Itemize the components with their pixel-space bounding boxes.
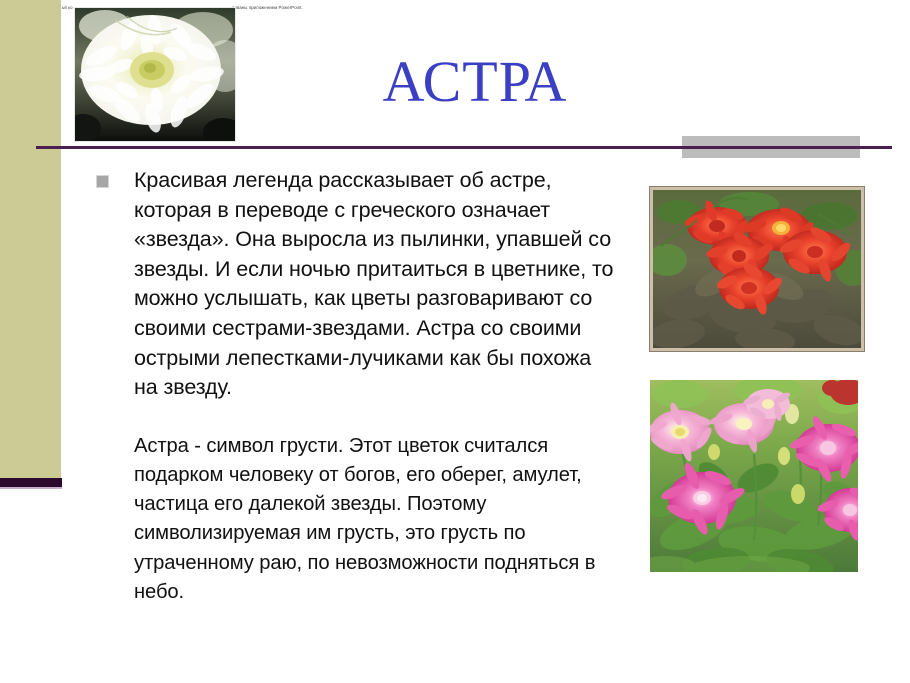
page-title: АСТРА	[250, 50, 700, 114]
square-bullet-icon	[96, 175, 109, 188]
left-accent-bar-shadow	[0, 487, 62, 489]
body-text-block: Красивая легенда рассказывает об астре, …	[96, 166, 616, 607]
presentation-slide: ьй ко рованы приложением PowerPoint.	[0, 0, 910, 683]
left-accent-bar	[0, 478, 62, 487]
paragraph-legend: Красивая легенда рассказывает об астре, …	[96, 166, 616, 403]
red-dahlias-artwork	[653, 190, 861, 348]
white-chrysanthemum-artwork	[75, 8, 235, 141]
left-decorative-band	[0, 0, 61, 478]
bullet-paragraph-1: Красивая легенда рассказывает об астре, …	[96, 166, 616, 403]
pink-asters-artwork	[650, 380, 858, 572]
red-dahlias-photo	[650, 187, 864, 351]
pink-asters-photo	[650, 380, 858, 572]
divider-line	[36, 146, 892, 149]
paragraph-symbolism: Астра - символ грусти. Этот цветок счита…	[96, 432, 616, 607]
white-chrysanthemum-photo	[74, 7, 236, 142]
header-note-right: рованы приложением PowerPoint.	[232, 2, 303, 13]
